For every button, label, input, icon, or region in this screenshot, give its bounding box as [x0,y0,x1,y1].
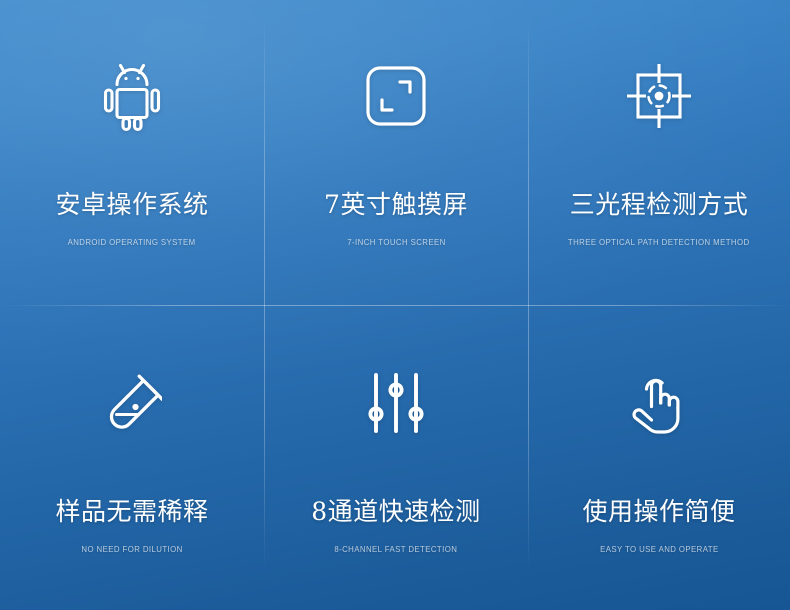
feature-cell-android-operating-system[interactable]: 安卓操作系统 ANDROID OPERATING SYSTEM [0,0,264,305]
feature-subtitle: 8-CHANNEL FAST DETECTION [335,545,458,554]
feature-cell-easy-to-use[interactable]: 使用操作简便 EASY TO USE AND OPERATE [528,305,790,610]
feature-grid-panel: 安卓操作系统 ANDROID OPERATING SYSTEM 7英寸触摸屏 7… [0,0,790,610]
feature-subtitle: EASY TO USE AND OPERATE [600,545,718,554]
feature-title: 8通道快速检测 [311,499,480,524]
feature-cell-no-dilution[interactable]: 样品无需稀释 NO NEED FOR DILUTION [0,305,264,610]
hand-tap-icon [630,355,688,451]
sliders-icon [368,355,424,451]
feature-subtitle: 7-INCH TOUCH SCREEN [347,238,445,247]
crosshair-target-icon [626,48,692,144]
feature-title: 样品无需稀释 [55,499,208,524]
feature-subtitle: NO NEED FOR DILUTION [81,545,182,554]
feature-cell-touch-screen[interactable]: 7英寸触摸屏 7-INCH TOUCH SCREEN [264,0,528,305]
feature-cell-eight-channel-detection[interactable]: 8通道快速检测 8-CHANNEL FAST DETECTION [264,305,528,610]
feature-title: 安卓操作系统 [55,192,208,217]
feature-cell-optical-path-detection[interactable]: 三光程检测方式 THREE OPTICAL PATH DETECTION MET… [528,0,790,305]
feature-grid: 安卓操作系统 ANDROID OPERATING SYSTEM 7英寸触摸屏 7… [0,0,790,610]
android-robot-icon [103,48,161,144]
touch-screen-icon [365,48,427,144]
feature-subtitle: ANDROID OPERATING SYSTEM [68,238,196,247]
feature-subtitle: THREE OPTICAL PATH DETECTION METHOD [568,238,750,247]
feature-title: 三光程检测方式 [570,192,749,217]
test-tube-icon [102,355,162,451]
feature-title: 7英寸触摸屏 [324,192,468,217]
feature-title: 使用操作简便 [582,499,735,524]
